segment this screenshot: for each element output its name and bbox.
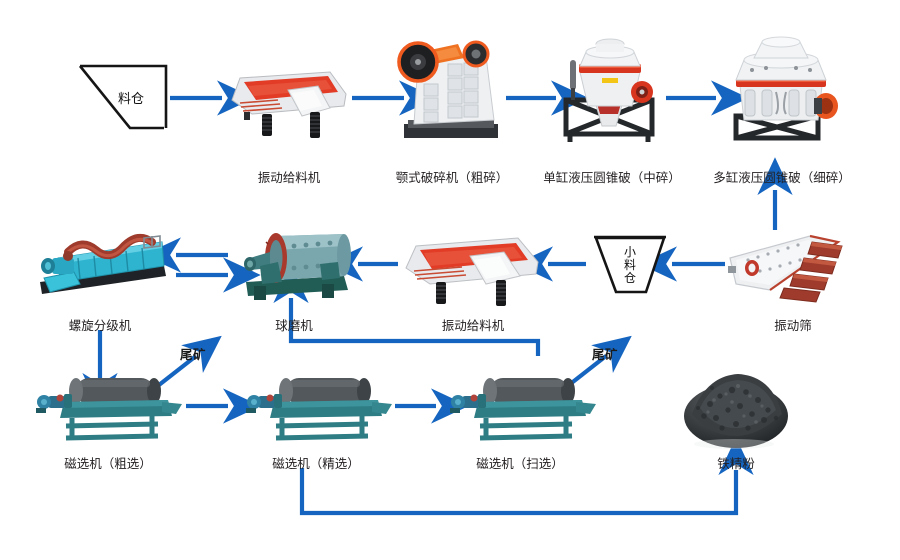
- vibrating-feeder-caption: 振动给料机: [226, 170, 352, 185]
- vibrating-feeder: [226, 56, 352, 146]
- magnetic-separator-scavenger: [444, 368, 600, 444]
- small-hopper-label: 小料仓: [623, 246, 637, 285]
- single-cylinder-cone-crusher-medium: [554, 22, 666, 148]
- iron-powder-caption: 铁精粉: [684, 456, 788, 471]
- separator-rougher-caption: 磁选机（粗选）: [28, 456, 188, 471]
- single-cone-caption: 单缸液压圆锥破（中碎）: [542, 170, 682, 185]
- ball-mill-caption: 球磨机: [226, 318, 362, 333]
- raw-hopper-label: 料仓: [118, 88, 144, 107]
- jaw-crusher-caption: 颚式破碎机（粗碎）: [376, 170, 528, 185]
- magnetic-separator-rougher: [30, 368, 186, 444]
- small-hopper: 小料仓: [590, 232, 670, 300]
- ball-mill: [232, 224, 356, 306]
- raw-material-hopper: 料仓: [78, 62, 170, 138]
- separator-cleaner-caption: 磁选机（精选）: [236, 456, 396, 471]
- multi-cylinder-cone-crusher-fine: [718, 24, 846, 148]
- spiral-classifier-caption: 螺旋分级机: [30, 318, 170, 333]
- vibrating-screen-caption: 振动筛: [726, 318, 860, 333]
- arrow-cleaner-to-iron-powder: [302, 468, 736, 513]
- vibrating-screen: [726, 228, 860, 308]
- iron-concentrate-powder: [676, 358, 796, 454]
- tailings-rougher: 尾矿: [180, 344, 206, 363]
- spiral-classifier: [34, 222, 170, 306]
- separator-scavenger-caption: 磁选机（扫选）: [440, 456, 600, 471]
- vibrating-feeder-2: [400, 226, 546, 310]
- process-flow-diagram: 料仓: [0, 0, 900, 560]
- vibrating-feeder-2-caption: 振动给料机: [400, 318, 546, 333]
- magnetic-separator-cleaner: [240, 368, 396, 444]
- tailings-scavenger: 尾矿: [592, 344, 618, 363]
- jaw-crusher-coarse: [394, 28, 510, 146]
- multi-cone-caption: 多缸液压圆锥破（细碎）: [708, 170, 856, 185]
